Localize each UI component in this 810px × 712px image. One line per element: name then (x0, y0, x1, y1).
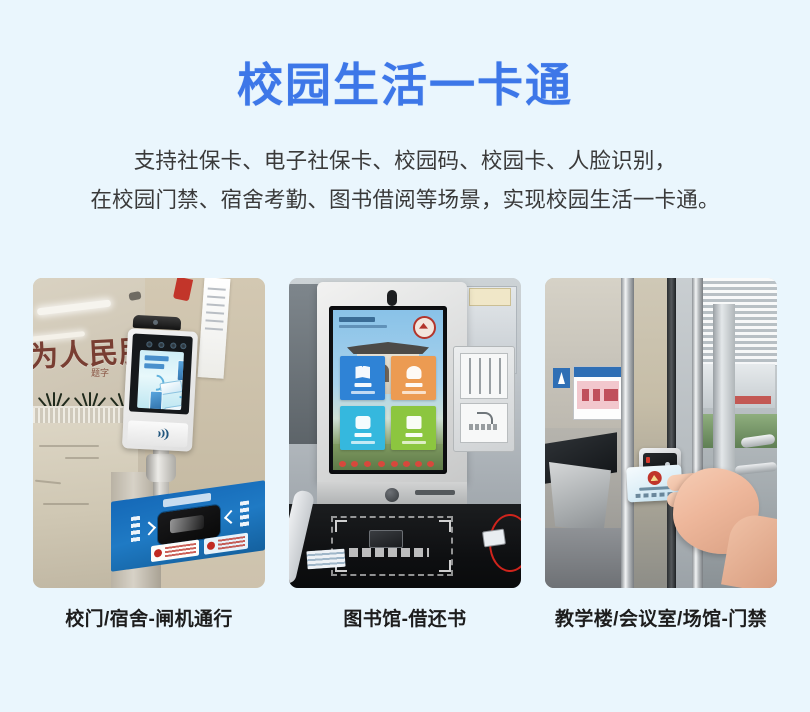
notice-sign-body (577, 381, 619, 409)
glass-panel-middle (634, 278, 667, 588)
turnstile-label-right (240, 500, 249, 527)
kiosk-tile-return[interactable] (391, 356, 436, 400)
kiosk-card-reader-panel[interactable] (453, 346, 515, 452)
showcase-item-library-kiosk[interactable]: 图书馆-借还书 (289, 278, 521, 631)
arrow-left-icon (224, 510, 238, 524)
door-frame-2 (667, 278, 676, 588)
book-outline-icon (369, 530, 403, 548)
showcase-item-door-access[interactable]: 教学楼/会议室/场馆-门禁 (545, 278, 777, 631)
subtitle-line-2: 在校园门禁、宿舍考勤、图书借阅等场景，实现校园生活一卡通。 (0, 181, 810, 220)
search-icon (355, 416, 370, 429)
hand-icon (406, 366, 421, 379)
emblem-icon-2 (207, 541, 215, 550)
corner-bracket-br (439, 560, 451, 572)
background-sign (469, 288, 511, 306)
indoor-area (545, 278, 623, 588)
reader-tap-zone[interactable] (460, 403, 508, 443)
showcase-caption-library-kiosk: 图书馆-借还书 (289, 604, 521, 631)
face-recognition-terminal[interactable] (122, 328, 198, 451)
page-title: 校园生活一卡通 (0, 0, 810, 108)
national-emblem-icon (647, 471, 662, 486)
kiosk-touchscreen[interactable] (333, 310, 443, 470)
sticker-text-lines-2 (218, 536, 245, 550)
reader-instruction-plate (460, 353, 508, 399)
terminal-heading-line-1 (145, 355, 169, 361)
direction-sign-icon (553, 368, 570, 388)
terminal-camera-array (146, 341, 186, 349)
indoor-floor (545, 528, 623, 588)
kiosk-receipt-slot (415, 490, 455, 495)
reader-tap-label (469, 424, 499, 430)
emblem-icon-1 (154, 549, 162, 558)
page-subtitle: 支持社保卡、电子社保卡、校园码、校园卡、人脸识别， 在校园门禁、宿舍考勤、图书借… (0, 108, 810, 220)
corner-bracket-tl (335, 520, 347, 532)
terminal-screen[interactable] (137, 350, 184, 410)
notice-sign-header (574, 367, 622, 377)
status-led-icon (646, 457, 650, 463)
indoor-bench (549, 462, 611, 532)
book-area-label (349, 548, 429, 557)
library-emblem-icon (413, 316, 436, 339)
showcase-gallery: 为人民服务 题字 (33, 278, 777, 631)
corner-bracket-tr (439, 520, 451, 532)
kiosk-speaker-icon (385, 488, 399, 502)
terminal-bezel (129, 334, 193, 415)
arrow-right-icon (142, 521, 156, 535)
kiosk-display-frame (329, 306, 447, 474)
subtitle-line-1: 支持社保卡、电子社保卡、校园码、校园卡、人脸识别， (0, 142, 810, 181)
kiosk-screen-title (339, 317, 375, 322)
terminal-heading-line-2 (144, 363, 164, 369)
promo-page: 校园生活一卡通 支持社保卡、电子社保卡、校园码、校园卡、人脸识别， 在校园门禁、… (0, 0, 810, 712)
card-title-line (639, 486, 671, 491)
book-icon (355, 366, 370, 379)
photo-library-kiosk (289, 278, 521, 588)
card-illustration-2 (164, 404, 184, 410)
kiosk-menu-tiles (340, 356, 436, 450)
turnstile-label-left (131, 516, 140, 543)
terminal-pole-base (146, 454, 176, 482)
showcase-caption-gate-turnstile: 校门/宿舍-闸机通行 (33, 604, 265, 631)
door-frame-1 (621, 278, 634, 588)
showcase-caption-door-access: 教学楼/会议室/场馆-门禁 (545, 604, 777, 631)
nfc-icon (146, 427, 169, 440)
door-notice-sign (573, 366, 623, 420)
sticker-text-lines-1 (165, 543, 196, 557)
kiosk-screen-subtitle (339, 325, 387, 328)
card-icon (406, 416, 421, 429)
stacked-books (306, 549, 345, 570)
photo-gate-turnstile: 为人民服务 题字 (33, 278, 265, 588)
kiosk-tile-search[interactable] (340, 406, 385, 450)
kiosk-tile-renew[interactable] (391, 406, 436, 450)
photo-door-access (545, 278, 777, 588)
phone-illustration-2 (149, 390, 163, 410)
side-card (482, 529, 506, 548)
card-illustration-1 (159, 380, 183, 395)
kiosk-tile-borrow[interactable] (340, 356, 385, 400)
terminal-nfc-swipe-zone[interactable] (127, 420, 188, 447)
showcase-item-gate-turnstile[interactable]: 为人民服务 题字 (33, 278, 265, 631)
phone-illustration-1 (177, 360, 185, 382)
kiosk-camera-icon (387, 290, 397, 306)
